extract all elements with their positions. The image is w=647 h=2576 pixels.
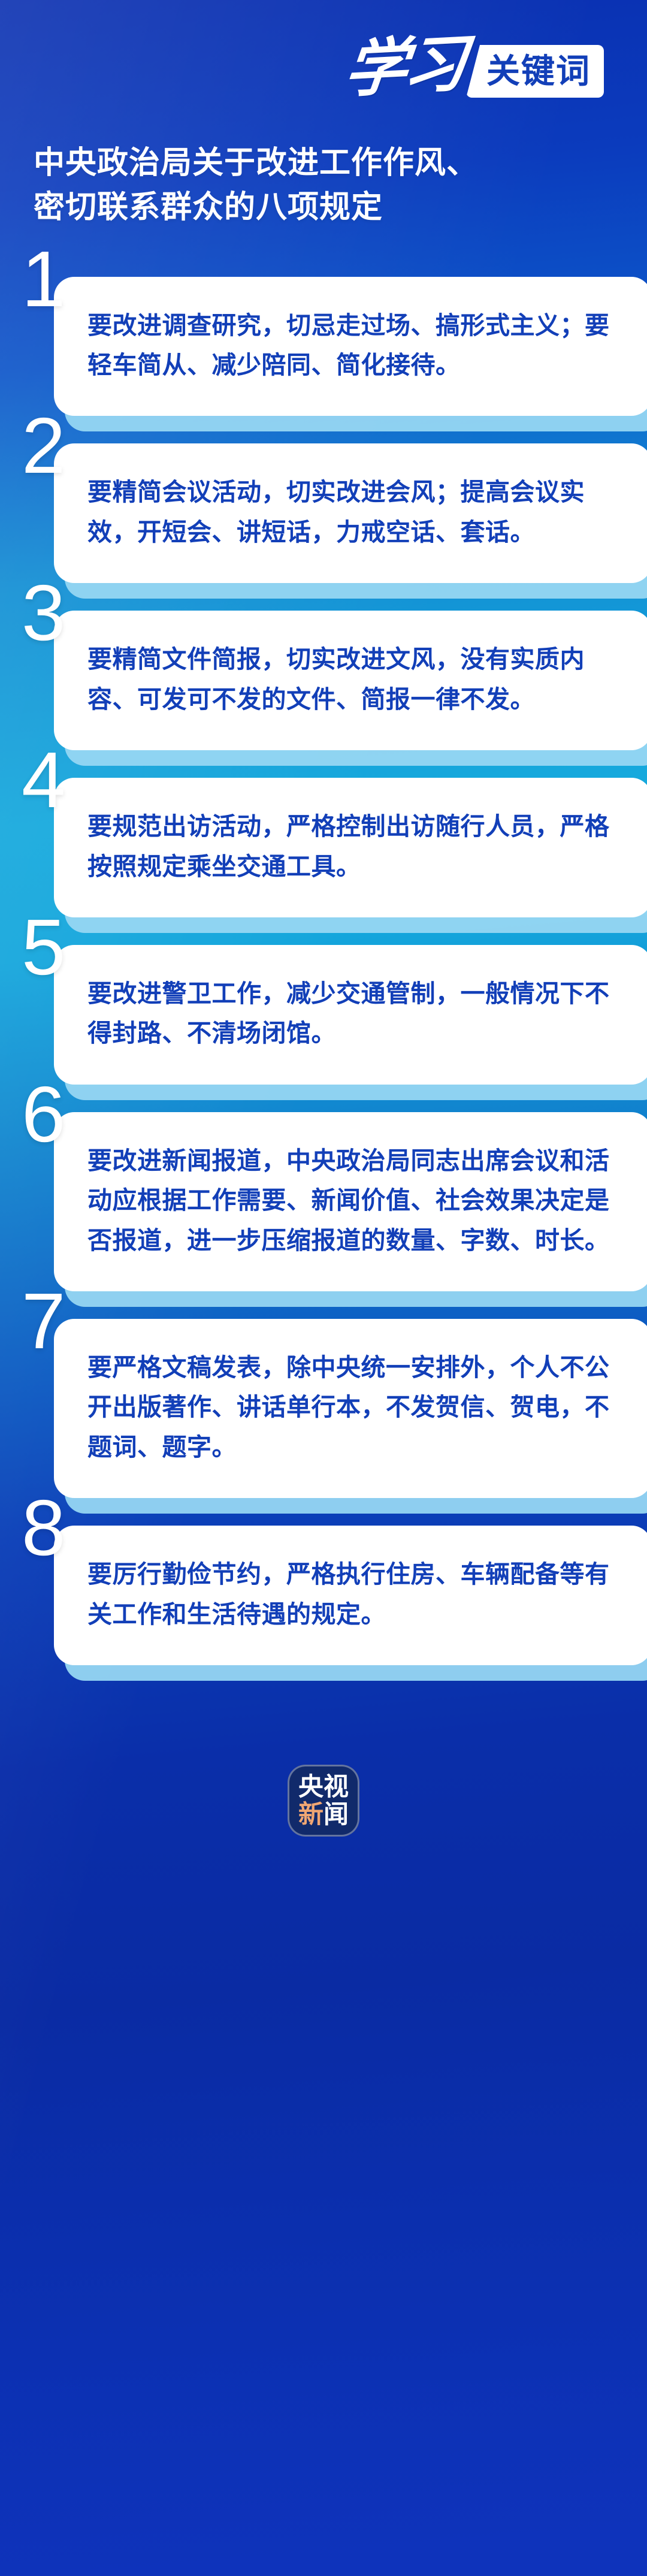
- footer: 央 视 新 闻: [0, 1693, 647, 1926]
- item-card: 要精简文件简报，切实改进文风，没有实质内容、可发可不发的文件、简报一律不发。: [54, 611, 647, 750]
- item-text: 要改进调查研究，切忌走过场、搞形式主义；要轻车简从、减少陪同、简化接待。: [87, 306, 618, 385]
- list-item: 1 要改进调查研究，切忌走过场、搞形式主义；要轻车简从、减少陪同、简化接待。: [0, 277, 647, 416]
- header: 学习 关键词: [0, 0, 647, 138]
- list-item: 3 要精简文件简报，切实改进文风，没有实质内容、可发可不发的文件、简报一律不发。: [0, 611, 647, 750]
- item-card: 要规范出访活动，严格控制出访随行人员，严格按照规定乘坐交通工具。: [54, 778, 647, 917]
- card-stack: 要精简文件简报，切实改进文风，没有实质内容、可发可不发的文件、简报一律不发。: [54, 611, 647, 750]
- card-stack: 要改进警卫工作，减少交通管制，一般情况下不得封路、不清场闭馆。: [54, 945, 647, 1085]
- item-text: 要精简文件简报，切实改进文风，没有实质内容、可发可不发的文件、简报一律不发。: [87, 639, 618, 719]
- regulation-list: 1 要改进调查研究，切忌走过场、搞形式主义；要轻车简从、减少陪同、简化接待。 2…: [0, 277, 647, 1665]
- item-card: 要严格文稿发表，除中央统一安排外，个人不公开出版著作、讲话单行本，不发贺信、贺电…: [54, 1319, 647, 1498]
- item-number: 7: [22, 1282, 64, 1361]
- list-item: 4 要规范出访活动，严格控制出访随行人员，严格按照规定乘坐交通工具。: [0, 778, 647, 917]
- item-text: 要严格文稿发表，除中央统一安排外，个人不公开出版著作、讲话单行本，不发贺信、贺电…: [87, 1348, 618, 1467]
- cctv-logo-char-xin: 新: [298, 1802, 323, 1827]
- list-item: 5 要改进警卫工作，减少交通管制，一般情况下不得封路、不清场闭馆。: [0, 945, 647, 1085]
- item-number: 2: [22, 406, 64, 485]
- cctv-logo-char-shi: 视: [323, 1774, 349, 1799]
- item-text: 要改进警卫工作，减少交通管制，一般情况下不得封路、不清场闭馆。: [87, 974, 618, 1053]
- cctv-logo-line-2: 新 闻: [298, 1802, 349, 1827]
- card-stack: 要严格文稿发表，除中央统一安排外，个人不公开出版著作、讲话单行本，不发贺信、贺电…: [54, 1319, 647, 1498]
- item-card: 要改进新闻报道，中央政治局同志出席会议和活动应根据工作需要、新闻价值、社会效果决…: [54, 1112, 647, 1291]
- brand-logo: 学习 关键词: [345, 37, 604, 101]
- list-item: 7 要严格文稿发表，除中央统一安排外，个人不公开出版著作、讲话单行本，不发贺信、…: [0, 1319, 647, 1498]
- page-title-line-1: 中央政治局关于改进工作作风、: [34, 141, 609, 186]
- cctv-logo-line-1: 央 视: [298, 1774, 349, 1799]
- cctv-logo-char-wen: 闻: [323, 1802, 349, 1827]
- item-text: 要精简会议活动，切实改进会风；提高会议实效，开短会、讲短话，力戒空话、套话。: [87, 472, 618, 552]
- cctv-news-logo: 央 视 新 闻: [288, 1765, 359, 1837]
- item-number: 1: [22, 240, 64, 319]
- item-text: 要改进新闻报道，中央政治局同志出席会议和活动应根据工作需要、新闻价值、社会效果决…: [87, 1141, 618, 1260]
- item-number: 8: [22, 1488, 64, 1568]
- brand-tag-label: 关键词: [466, 45, 604, 98]
- item-card: 要精简会议活动，切实改进会风；提高会议实效，开短会、讲短话，力戒空话、套话。: [54, 443, 647, 583]
- item-number: 5: [22, 908, 64, 987]
- list-item: 8 要厉行勤俭节约，严格执行住房、车辆配备等有关工作和生活待遇的规定。: [0, 1526, 647, 1665]
- card-stack: 要规范出访活动，严格控制出访随行人员，严格按照规定乘坐交通工具。: [54, 778, 647, 917]
- item-number: 3: [22, 573, 64, 653]
- page-title-line-2: 密切联系群众的八项规定: [34, 186, 609, 230]
- item-card: 要厉行勤俭节约，严格执行住房、车辆配备等有关工作和生活待遇的规定。: [54, 1526, 647, 1665]
- card-stack: 要改进调查研究，切忌走过场、搞形式主义；要轻车简从、减少陪同、简化接待。: [54, 277, 647, 416]
- brand-script-mark: 学习: [341, 34, 466, 102]
- list-item: 2 要精简会议活动，切实改进会风；提高会议实效，开短会、讲短话，力戒空话、套话。: [0, 443, 647, 583]
- item-text: 要规范出访活动，严格控制出访随行人员，严格按照规定乘坐交通工具。: [87, 807, 618, 886]
- item-number: 6: [22, 1075, 64, 1154]
- item-card: 要改进警卫工作，减少交通管制，一般情况下不得封路、不清场闭馆。: [54, 945, 647, 1085]
- list-item: 6 要改进新闻报道，中央政治局同志出席会议和活动应根据工作需要、新闻价值、社会效…: [0, 1112, 647, 1291]
- infographic-poster: 学习 关键词 中央政治局关于改进工作作风、 密切联系群众的八项规定 1 要改进调…: [0, 0, 647, 2576]
- cctv-logo-char-yang: 央: [298, 1774, 323, 1799]
- card-stack: 要厉行勤俭节约，严格执行住房、车辆配备等有关工作和生活待遇的规定。: [54, 1526, 647, 1665]
- item-number: 4: [22, 741, 64, 820]
- card-stack: 要精简会议活动，切实改进会风；提高会议实效，开短会、讲短话，力戒空话、套话。: [54, 443, 647, 583]
- card-stack: 要改进新闻报道，中央政治局同志出席会议和活动应根据工作需要、新闻价值、社会效果决…: [54, 1112, 647, 1291]
- item-card: 要改进调查研究，切忌走过场、搞形式主义；要轻车简从、减少陪同、简化接待。: [54, 277, 647, 416]
- page-title: 中央政治局关于改进工作作风、 密切联系群众的八项规定: [34, 141, 609, 230]
- item-text: 要厉行勤俭节约，严格执行住房、车辆配备等有关工作和生活待遇的规定。: [87, 1554, 618, 1634]
